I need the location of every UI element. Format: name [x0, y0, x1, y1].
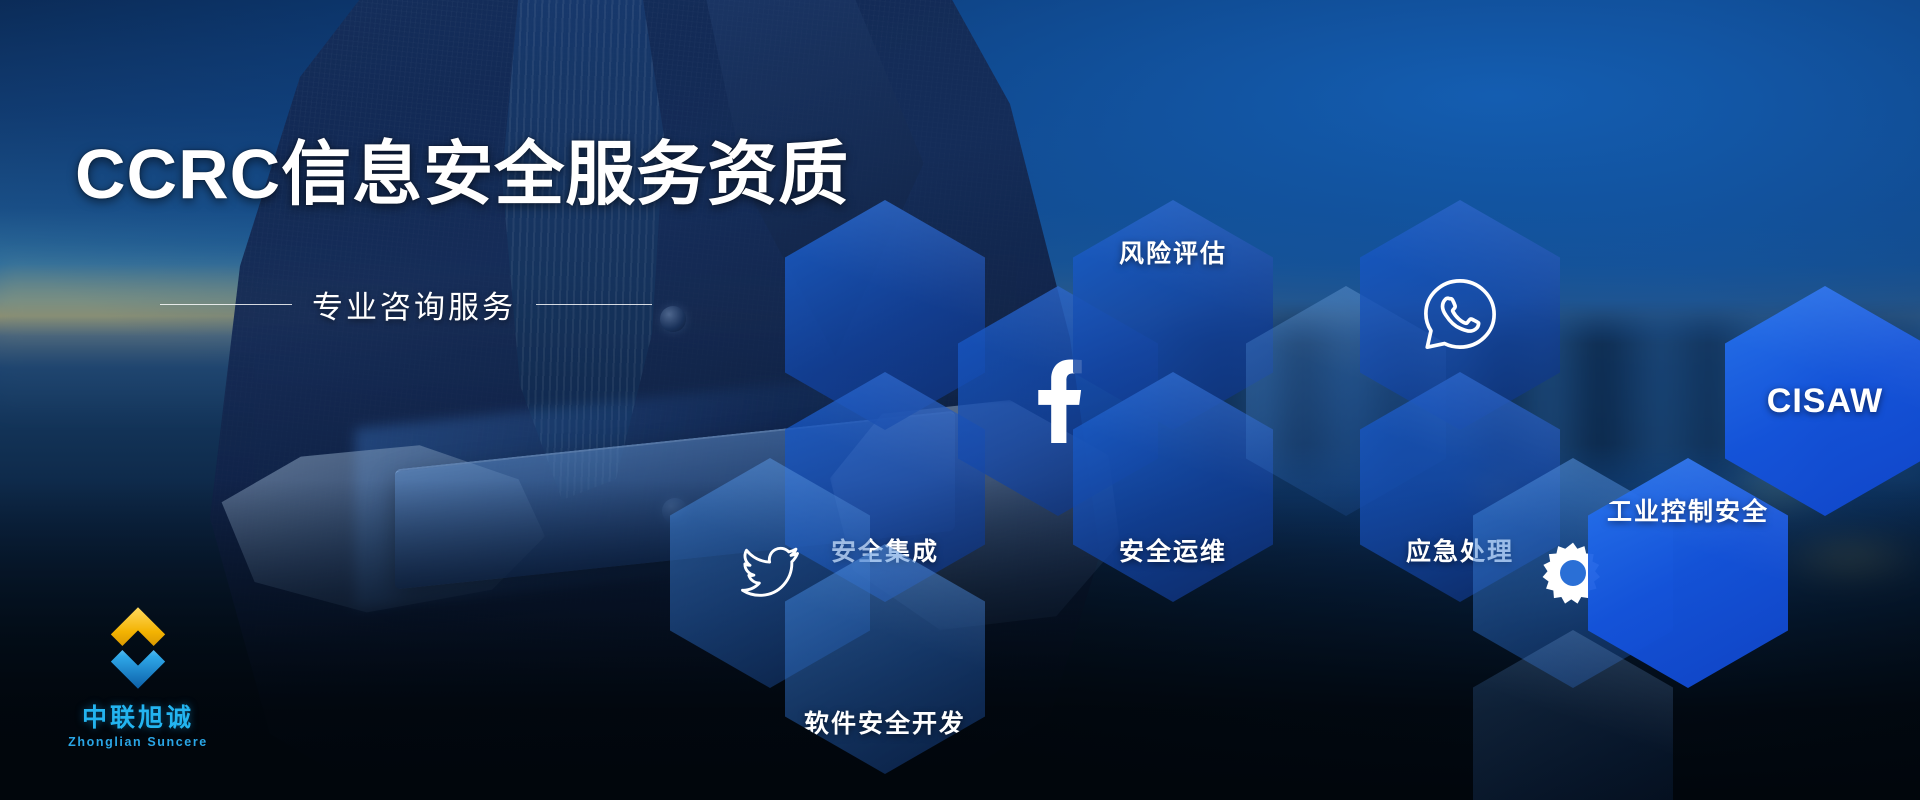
page-title: CCRC信息安全服务资质	[75, 118, 849, 219]
phone-chat-icon	[1418, 273, 1502, 357]
subtitle-row: 专业咨询服务	[160, 282, 652, 327]
logo-name-en: Zhonglian Suncere	[58, 735, 218, 749]
hex-cisaw[interactable]: CISAW	[1725, 286, 1920, 516]
twitter-icon	[735, 543, 805, 603]
hex-label-risk-assessment: 风险评估	[1119, 234, 1227, 270]
hex-label-cisaw: CISAW	[1767, 382, 1883, 421]
subtitle-rule-right-icon	[536, 304, 652, 305]
logo-name-cn: 中联旭诚	[58, 698, 218, 734]
company-logo[interactable]: 中联旭诚 Zhonglian Suncere	[58, 600, 218, 749]
page-subtitle: 专业咨询服务	[312, 282, 516, 327]
hex-label-industrial-control: 工业控制安全	[1607, 492, 1769, 528]
banner-root: 安全集成 软件安全开发 风险评估 安全运维	[0, 0, 1920, 800]
hex-label-security-ops: 安全运维	[1119, 532, 1227, 568]
interlocking-diamond-logo-icon	[90, 600, 186, 696]
hex-label-software-security: 软件安全开发	[804, 704, 966, 740]
subtitle-rule-left-icon	[160, 304, 292, 305]
